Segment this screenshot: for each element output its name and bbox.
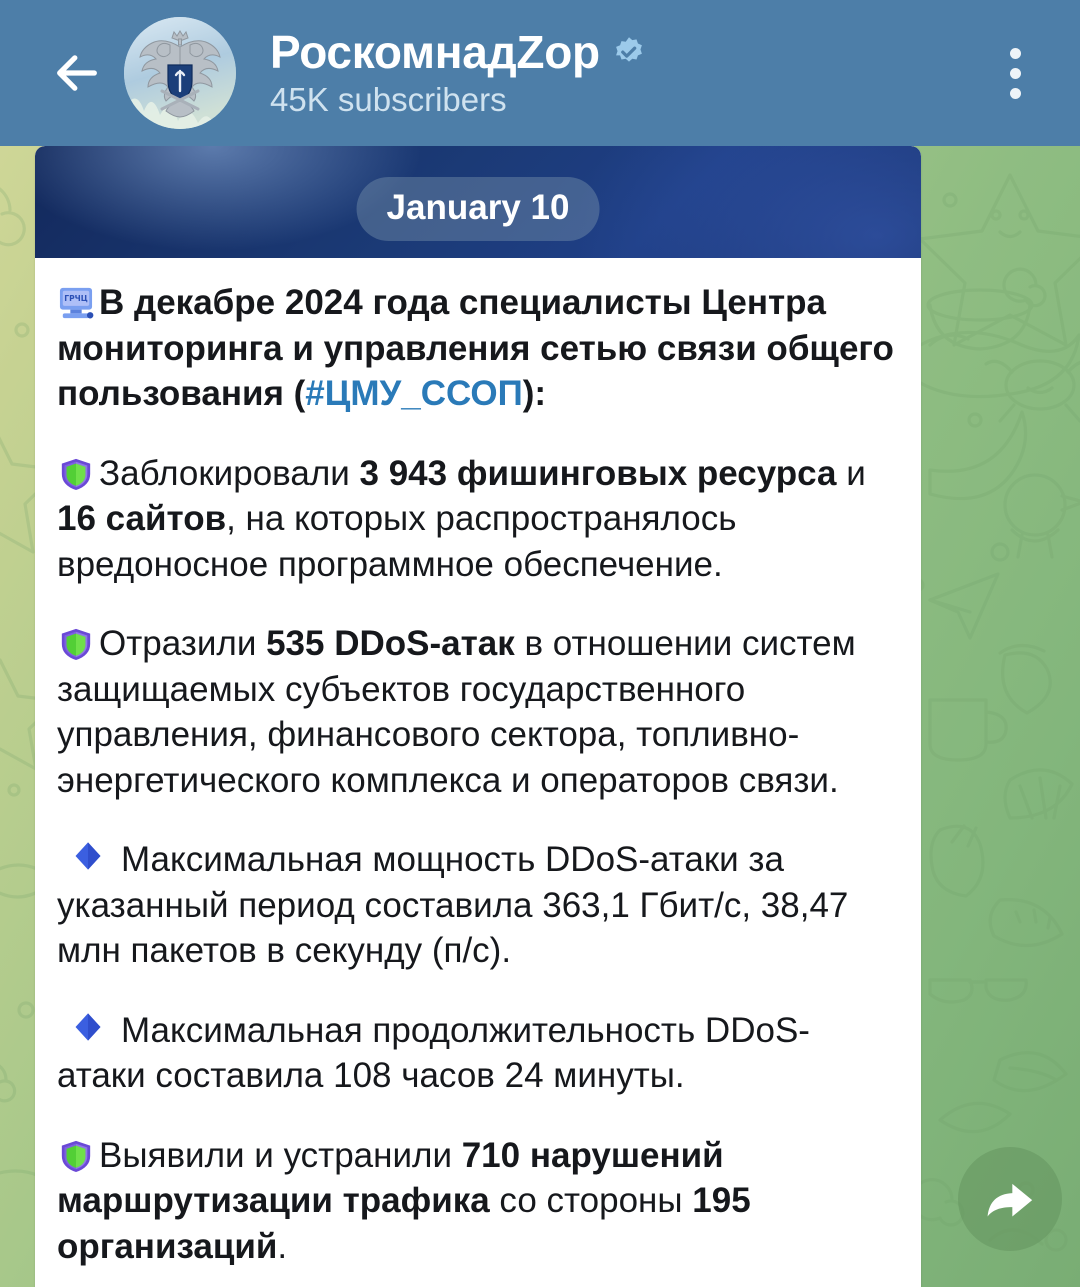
- svg-text:ГРЧЦ: ГРЧЦ: [64, 294, 87, 303]
- desktop-computer-emoji: ГРЧЦ: [57, 286, 95, 320]
- message-text: ГРЧЦ В декабре 2024 года специалисты Цен…: [35, 258, 921, 1275]
- forward-arrow-icon: [982, 1171, 1038, 1227]
- header-titles: РоскомнадZор 45K subscribers: [270, 28, 646, 118]
- back-button[interactable]: [38, 34, 116, 112]
- reactions-bar[interactable]: 189 94 30 18 12: [35, 1275, 921, 1287]
- overflow-menu-icon: [1010, 68, 1021, 79]
- channel-avatar[interactable]: [124, 17, 236, 129]
- message-paragraph: Максимальная продолжительность DDoS-атак…: [57, 1008, 895, 1099]
- message-media-image[interactable]: January 10: [35, 146, 921, 258]
- shield-emoji: [57, 1139, 95, 1173]
- hashtag-link[interactable]: #ЦМУ_ССОП: [305, 374, 523, 413]
- verified-badge-icon: [612, 35, 646, 69]
- shield-emoji: [57, 627, 95, 661]
- channel-header: РоскомнадZор 45K subscribers: [0, 0, 1080, 146]
- text-normal: Максимальная продолжительность DDoS-атак…: [57, 1011, 810, 1096]
- overflow-menu-button[interactable]: [980, 38, 1050, 108]
- telegram-channel-screen: РоскомнадZор 45K subscribers January 10 …: [0, 0, 1080, 1287]
- text-normal: Отразили: [99, 624, 266, 663]
- channel-title: РоскомнадZор: [270, 28, 600, 76]
- message-paragraph: Максимальная мощность DDoS-атаки за указ…: [57, 837, 895, 974]
- title-row: РоскомнадZор: [270, 28, 646, 76]
- message-paragraph: ГРЧЦ В декабре 2024 года специалисты Цен…: [57, 280, 895, 417]
- message-bubble[interactable]: January 10 ГРЧЦ В декабре 2024 года спец…: [35, 146, 921, 1287]
- text-normal: и: [837, 454, 866, 493]
- overflow-menu-icon: [1010, 48, 1021, 59]
- blue-diamond-emoji: [71, 839, 105, 873]
- date-separator: January 10: [357, 177, 600, 241]
- text-bold: 16 сайтов: [57, 499, 226, 538]
- text-normal: Выявили и устранили: [99, 1136, 462, 1175]
- text-bold: 3 943 фишинговых ресурса: [360, 454, 837, 493]
- text-normal: со стороны: [490, 1181, 693, 1220]
- shield-emoji: [57, 457, 95, 491]
- message-paragraph: Отразили 535 DDoS-атак в отношении систе…: [57, 621, 895, 803]
- subscriber-count: 45K subscribers: [270, 82, 646, 118]
- text-normal: Максимальная мощность DDoS-атаки за указ…: [57, 840, 848, 970]
- overflow-menu-icon: [1010, 88, 1021, 99]
- double-headed-eagle-emblem-icon: [124, 17, 236, 129]
- text-normal: .: [277, 1227, 287, 1266]
- message-paragraph: Выявили и устранили 710 нарушений маршру…: [57, 1133, 895, 1270]
- blue-diamond-emoji: [71, 1010, 105, 1044]
- text-normal: Заблокировали: [99, 454, 360, 493]
- text-bold: 535 DDoS-атак: [266, 624, 515, 663]
- forward-button[interactable]: [958, 1147, 1062, 1251]
- text-bold: ):: [523, 374, 546, 413]
- back-arrow-icon: [51, 47, 103, 99]
- message-paragraph: Заблокировали 3 943 фишинговых ресурса и…: [57, 451, 895, 588]
